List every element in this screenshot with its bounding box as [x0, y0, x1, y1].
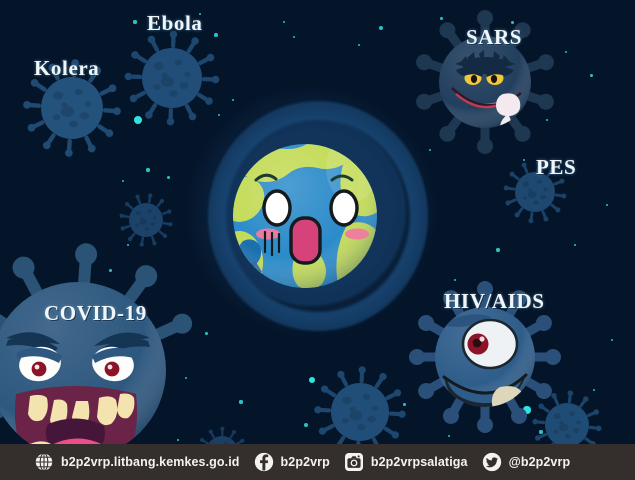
star-dot — [539, 430, 542, 433]
label-ebola: Ebola — [147, 11, 203, 36]
footer-item-instagram[interactable]: b2p2vrpsalatiga — [344, 452, 468, 472]
twitter-icon — [482, 452, 502, 472]
footer-label-facebook: b2p2vrp — [281, 455, 330, 469]
star-dot — [379, 26, 383, 30]
star-dot — [511, 21, 514, 24]
star-dot — [146, 168, 149, 171]
globe-icon — [34, 452, 54, 472]
star-dot — [590, 74, 593, 77]
star-dot — [133, 20, 136, 23]
label-hivaids: HIV/AIDS — [444, 289, 545, 314]
label-kolera: Kolera — [34, 56, 99, 81]
label-sars: SARS — [466, 25, 522, 50]
star-dot — [239, 400, 242, 403]
star-dot — [109, 269, 112, 272]
footer-label-twitter: @b2p2vrp — [509, 455, 571, 469]
facebook-icon — [254, 452, 274, 472]
footer-item-website[interactable]: b2p2vrp.litbang.kemkes.go.id — [34, 452, 240, 472]
virus-awareness-poster: KoleraEbolaSARSPESCOVID-19HIV/AIDS b2p2v… — [0, 0, 635, 480]
footer-item-twitter[interactable]: @b2p2vrp — [482, 452, 571, 472]
star-dot — [476, 123, 479, 126]
earth-glow-ring — [208, 101, 428, 331]
star-dot — [214, 33, 218, 37]
star-dot — [496, 248, 499, 251]
instagram-icon — [344, 452, 364, 472]
label-covid19: COVID-19 — [44, 301, 147, 326]
star-dot — [205, 332, 208, 335]
star-dot — [403, 403, 406, 406]
footer-bar: b2p2vrp.litbang.kemkes.go.id b2p2vrp b2p… — [0, 444, 635, 480]
footer-label-instagram: b2p2vrpsalatiga — [371, 455, 468, 469]
star-dot — [440, 17, 443, 20]
label-pes: PES — [536, 155, 576, 180]
star-dot — [523, 406, 530, 413]
star-dot — [167, 176, 170, 179]
footer-item-facebook[interactable]: b2p2vrp — [254, 452, 330, 472]
footer-label-website: b2p2vrp.litbang.kemkes.go.id — [61, 455, 240, 469]
